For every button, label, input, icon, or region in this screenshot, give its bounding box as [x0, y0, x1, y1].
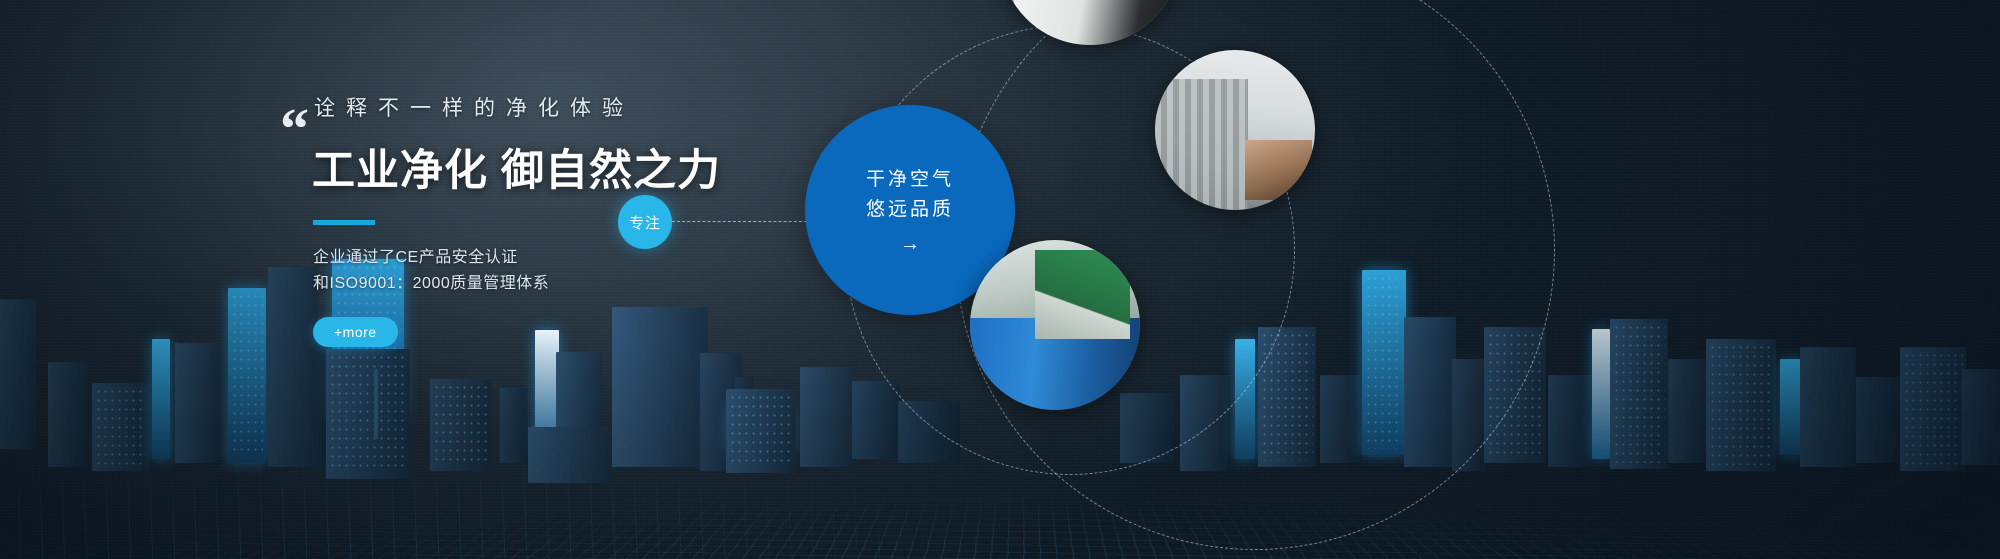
quote-mark-icon: “ [280, 100, 307, 158]
circle-line-1: 干净空气 [866, 165, 954, 195]
dashed-connector-line [672, 221, 812, 222]
arrow-right-icon: → [900, 233, 920, 256]
hero-banner: “ 诠释不一样的净化体验 工业净化 御自然之力 企业通过了CE产品安全认证 和I… [0, 0, 2000, 559]
hero-diagram: 专注 干净空气 悠远品质 → [600, 0, 2000, 559]
more-button[interactable]: +more [313, 317, 398, 347]
pipeline-equipment-photo[interactable] [970, 240, 1140, 410]
industrial-workshop-photo[interactable] [1000, 0, 1180, 45]
focus-badge[interactable]: 专注 [618, 195, 672, 249]
accent-rule [313, 220, 375, 225]
circle-line-2: 悠远品质 [866, 195, 954, 225]
production-line-photo[interactable] [1155, 50, 1315, 210]
